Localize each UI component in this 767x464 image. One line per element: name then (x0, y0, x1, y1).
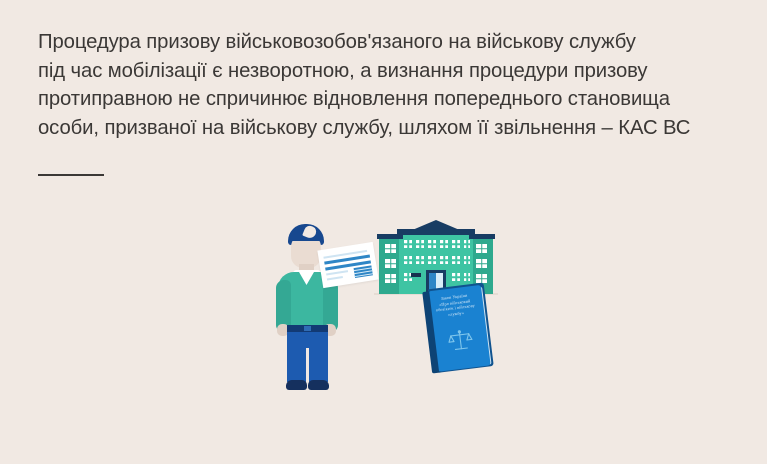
person-left-shoe (286, 380, 307, 390)
illustration: Illustration: conscript with call-up not… (0, 198, 767, 408)
notice-text-line (327, 276, 343, 280)
building-window (476, 244, 487, 253)
call-up-notice-card (317, 242, 378, 288)
building-window (385, 274, 396, 283)
person-belt-buckle (304, 326, 311, 331)
illustration-caption: Illustration: conscript with call-up not… (0, 198, 1, 199)
building-nameplate (411, 273, 421, 277)
headline-block: Процедура призову військовозобов'язаного… (38, 28, 738, 142)
law-book: Закон України «Про військовий обов'язок … (422, 283, 494, 376)
building-window (451, 239, 461, 249)
building-window (463, 255, 471, 265)
building-window (476, 259, 487, 268)
building-window (463, 272, 471, 282)
building-window (415, 255, 425, 265)
building-window (451, 272, 461, 282)
person-right-shoe (308, 380, 329, 390)
building-window (403, 255, 413, 265)
building-window (439, 255, 449, 265)
building-window (476, 274, 487, 283)
building-window (427, 239, 437, 249)
building-window (427, 255, 437, 265)
building-window (385, 259, 396, 268)
building-pediment (410, 220, 462, 231)
building-window (451, 255, 461, 265)
building-window (415, 239, 425, 249)
building-window (439, 239, 449, 249)
building-window (403, 239, 413, 249)
slide-canvas: Процедура призову військовозобов'язаного… (0, 0, 767, 464)
notice-stamp-block (354, 265, 373, 278)
headline-underline-rule (38, 174, 104, 176)
building-window (463, 239, 471, 249)
page-title: Процедура призову військовозобов'язаного… (38, 28, 738, 142)
person-leg-gap (306, 348, 309, 382)
notice-text-line (326, 270, 348, 275)
building-window (385, 244, 396, 253)
scales-of-justice-icon (446, 326, 475, 355)
